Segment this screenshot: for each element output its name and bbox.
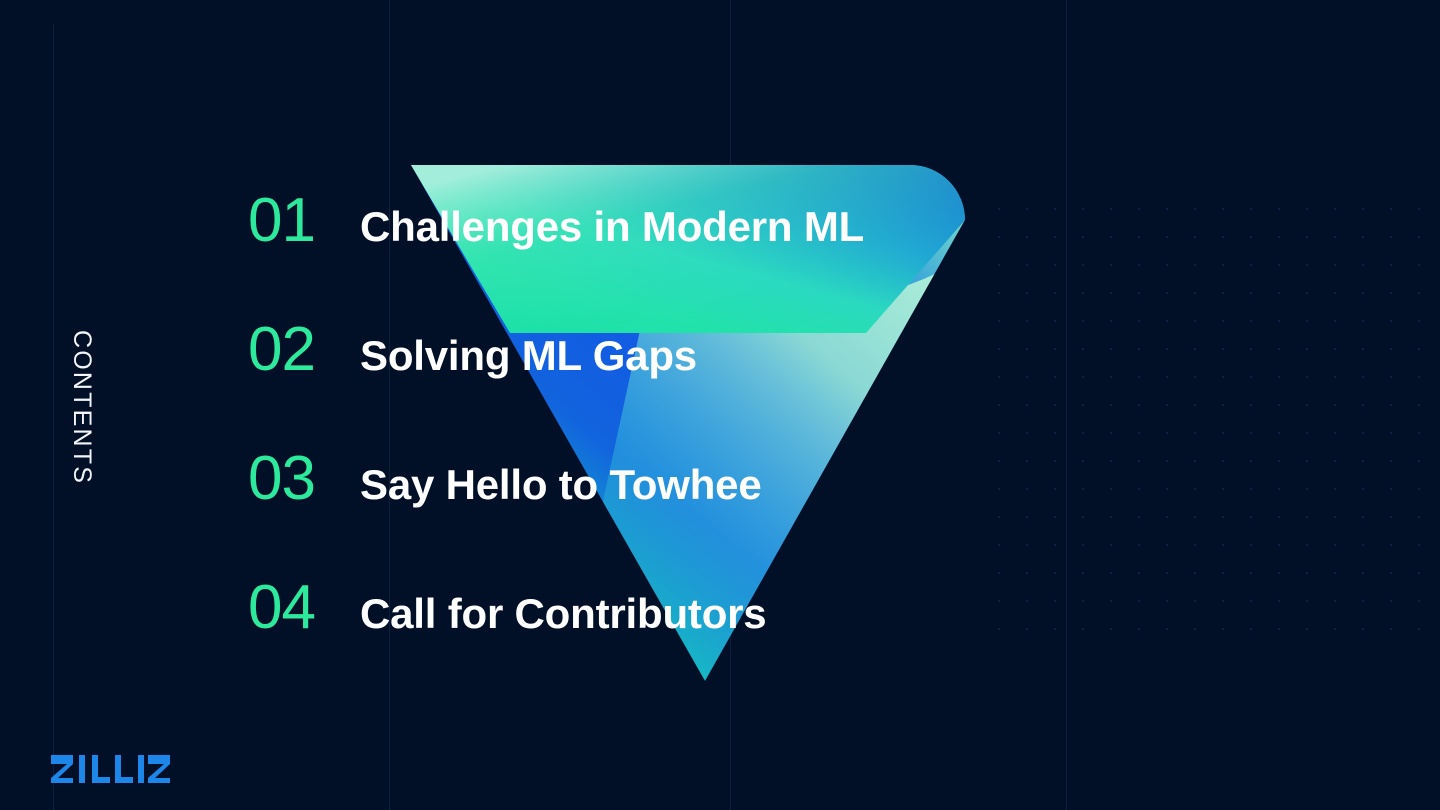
vertical-rule-4: [1066, 0, 1067, 810]
list-item[interactable]: 01 Challenges in Modern ML: [248, 190, 1008, 319]
toc-number: 02: [248, 319, 360, 381]
contents-side-label: CONTENTS: [67, 330, 96, 485]
toc-title: Say Hello to Towhee: [360, 464, 762, 506]
list-item[interactable]: 04 Call for Contributors: [248, 577, 1008, 706]
toc-title: Call for Contributors: [360, 593, 766, 635]
contents-list: 01 Challenges in Modern ML 02 Solving ML…: [248, 190, 1008, 706]
list-item[interactable]: 03 Say Hello to Towhee: [248, 448, 1008, 577]
zilliz-logo[interactable]: [50, 753, 172, 785]
presentation-slide: CONTENTS 01 Challenges in Modern ML 02 S…: [0, 0, 1440, 810]
vertical-rule-1: [53, 24, 54, 810]
toc-number: 04: [248, 577, 360, 639]
list-item[interactable]: 02 Solving ML Gaps: [248, 319, 1008, 448]
toc-title: Challenges in Modern ML: [360, 206, 864, 248]
toc-title: Solving ML Gaps: [360, 335, 697, 377]
dot-grid-pattern: [985, 195, 1425, 640]
toc-number: 03: [248, 448, 360, 510]
toc-number: 01: [248, 190, 360, 252]
